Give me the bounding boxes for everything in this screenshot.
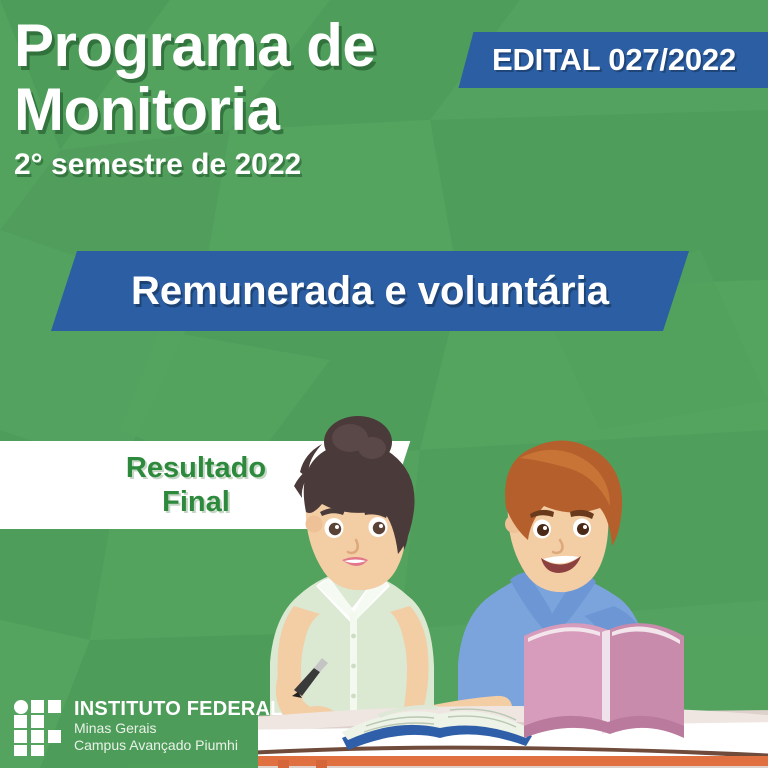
poster-title-block: Programa de Monitoria 2° semestre de 202… xyxy=(14,14,484,182)
logo-institution-name: INSTITUTO FEDERAL xyxy=(74,698,283,720)
poster-root: Programa de Monitoria 2° semestre de 202… xyxy=(0,0,768,768)
instituto-federal-logo-icon xyxy=(14,700,62,756)
title-line-1: Programa de xyxy=(14,14,484,78)
footer-logo: INSTITUTO FEDERAL Minas Gerais Campus Av… xyxy=(14,698,283,756)
title-line-2: Monitoria xyxy=(14,78,484,142)
logo-campus-name: Campus Avançado Piumhi xyxy=(74,737,283,754)
result-banner-line-1: Resultado xyxy=(126,451,266,485)
poster-subtitle: 2° semestre de 2022 xyxy=(14,148,484,182)
edital-badge: EDITAL 027/2022 xyxy=(458,32,768,88)
logo-state-name: Minas Gerais xyxy=(74,720,283,737)
modality-ribbon: Remunerada e voluntária xyxy=(51,251,689,331)
modality-ribbon-label: Remunerada e voluntária xyxy=(64,251,676,331)
result-banner-line-2: Final xyxy=(162,485,230,519)
students-illustration xyxy=(258,400,768,768)
edital-badge-label: EDITAL 027/2022 xyxy=(466,32,768,88)
